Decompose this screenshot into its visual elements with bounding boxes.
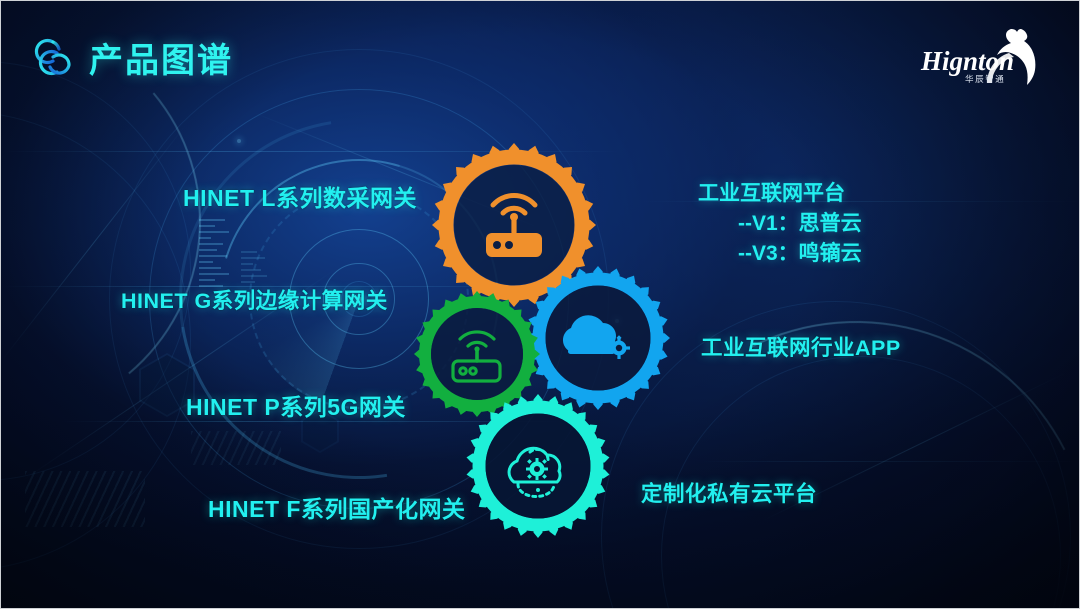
platform-v3: --V3：鸣镝云 <box>698 239 862 269</box>
brand-name-cn: 华辰智通 <box>965 74 1005 84</box>
label-industrial-platform: 工业互联网平台 --V1：思普云 --V3：鸣镝云 <box>698 179 862 268</box>
label-hinet-f: HINET F系列国产化网关 <box>208 490 465 524</box>
label-industrial-app: 工业互联网行业APP <box>701 331 901 362</box>
label-private-cloud: 定制化私有云平台 <box>641 477 817 508</box>
gear-cyan[interactable] <box>465 393 611 539</box>
page-title: 产品图谱 <box>89 33 233 82</box>
platform-v1: --V1：思普云 <box>698 209 862 239</box>
brand-logo: Hignton 华辰智通 <box>917 23 1057 89</box>
platform-title: 工业互联网平台 <box>698 179 862 209</box>
slide-canvas: 产品图谱 Hignton 华辰智通 <box>0 0 1080 609</box>
gear-blue[interactable] <box>525 265 671 411</box>
label-hinet-p: HINET P系列5G网关 <box>186 388 406 422</box>
header-logo-icon <box>29 34 81 80</box>
label-hinet-g: HINET G系列边缘计算网关 <box>121 284 388 315</box>
label-hinet-l: HINET L系列数采网关 <box>183 179 417 213</box>
brand-name: Hignton <box>920 46 1014 76</box>
